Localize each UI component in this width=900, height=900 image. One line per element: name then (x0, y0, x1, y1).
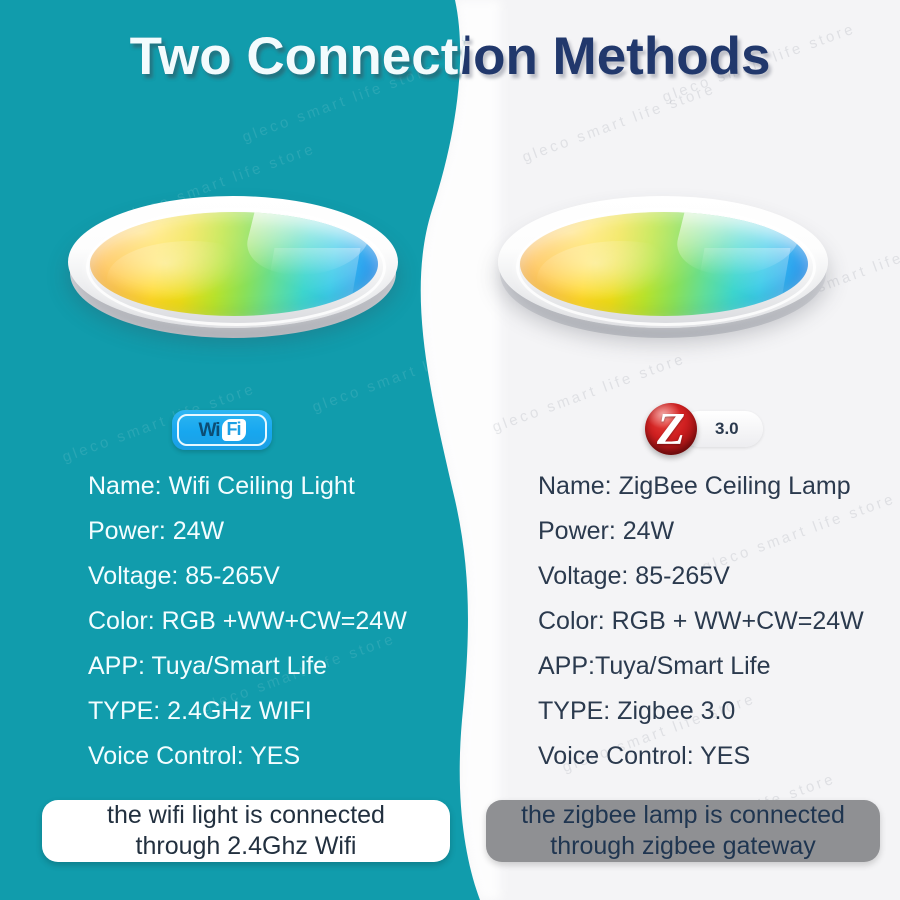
wifi-caption: the wifi light is connected through 2.4G… (42, 800, 450, 862)
lamp-inner-ring (86, 208, 386, 326)
spec-row: Voice Control: YES (88, 734, 407, 779)
spec-row: Name: Wifi Ceiling Light (88, 464, 407, 509)
zigbee-spec-list: Name: ZigBee Ceiling Lamp Power: 24W Vol… (538, 464, 864, 779)
wifi-lamp-image (68, 196, 398, 346)
spec-row: TYPE: 2.4GHz WIFI (88, 689, 407, 734)
zigbee-badge-icon: 3.0 Z (645, 403, 765, 455)
spec-row: Power: 24W (538, 509, 864, 554)
page-title-light-clip: Two Connection Methods (0, 22, 900, 92)
zigbee-caption: the zigbee lamp is connected through zig… (486, 800, 880, 862)
spec-row: Color: RGB + WW+CW=24W (538, 599, 864, 644)
zigbee-logo-letter: Z (645, 403, 697, 455)
spec-row: APP: Tuya/Smart Life (88, 644, 407, 689)
wifi-caption-line2: through 2.4Ghz Wifi (136, 831, 357, 862)
page-title-light-layer: Two Connection Methods (0, 22, 900, 92)
page-title: Two Connection Methods Two Connection Me… (0, 22, 900, 92)
spec-row: Voltage: 85-265V (538, 554, 864, 599)
wifi-spec-list: Name: Wifi Ceiling Light Power: 24W Volt… (88, 464, 407, 779)
spec-row: Power: 24W (88, 509, 407, 554)
wifi-badge-pill: Fi (222, 419, 246, 441)
wifi-badge-primary-text: Wi (198, 421, 219, 440)
zigbee-caption-line1: the zigbee lamp is connected (521, 800, 845, 831)
spec-row: APP:Tuya/Smart Life (538, 644, 864, 689)
spec-row: TYPE: Zigbee 3.0 (538, 689, 864, 734)
zigbee-version-label: 3.0 (715, 419, 761, 439)
wifi-badge-inner: Wi Fi (177, 414, 267, 446)
zigbee-logo-sphere: Z (645, 403, 697, 455)
wifi-badge-icon: Wi Fi (172, 410, 272, 450)
wifi-badge-secondary-text: Fi (227, 419, 241, 439)
spec-row: Color: RGB +WW+CW=24W (88, 599, 407, 644)
zigbee-lamp-image (498, 196, 828, 346)
lamp-inner-ring (516, 208, 816, 326)
zigbee-caption-line2: through zigbee gateway (550, 831, 815, 862)
spec-row: Voice Control: YES (538, 734, 864, 779)
infographic-canvas: gleco smart life store gleco smart life … (0, 0, 900, 900)
spec-row: Voltage: 85-265V (88, 554, 407, 599)
wifi-caption-line1: the wifi light is connected (107, 800, 385, 831)
spec-row: Name: ZigBee Ceiling Lamp (538, 464, 864, 509)
